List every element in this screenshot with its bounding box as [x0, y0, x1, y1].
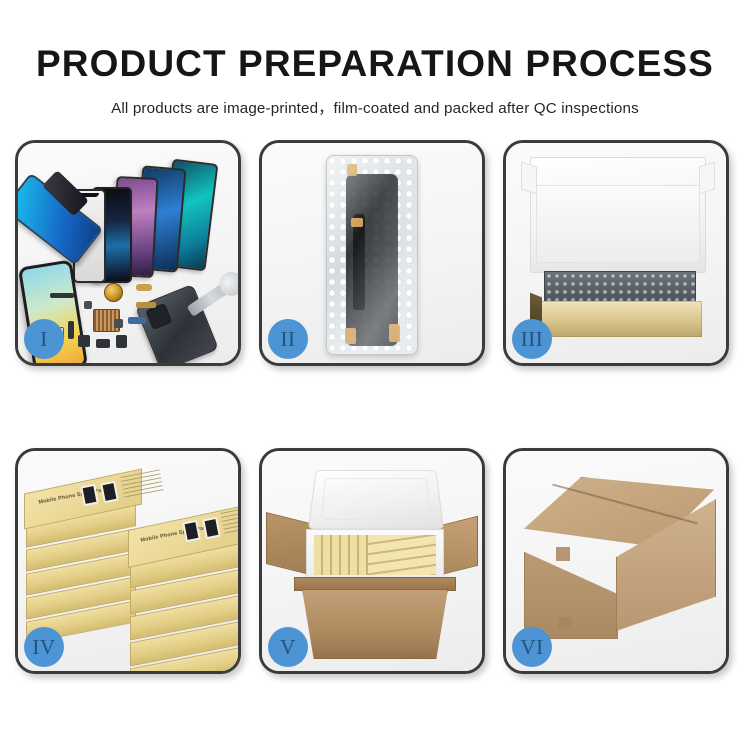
copper-coil-part — [104, 283, 123, 302]
step-panel-4: Mobile Phone Spare Parts Mobile Phone Sp… — [15, 448, 241, 674]
product-preparation-infographic: PRODUCT PREPARATION PROCESS All products… — [0, 0, 750, 750]
step-badge-2: II — [268, 319, 308, 359]
header: PRODUCT PREPARATION PROCESS All products… — [0, 0, 750, 118]
spare-part — [68, 321, 74, 339]
spare-part — [116, 335, 127, 348]
step-badge-1: I — [24, 319, 64, 359]
step-panel-6: VI — [503, 448, 729, 674]
step-badge-5: V — [268, 627, 308, 667]
steps-grid: I II — [15, 140, 735, 674]
page-subtitle: All products are image-printed，film-coat… — [0, 96, 750, 118]
spare-part — [96, 339, 110, 348]
carton-top-edge — [294, 577, 456, 591]
spare-part — [50, 293, 74, 298]
spare-part — [128, 317, 146, 324]
box-front-shade — [538, 301, 702, 337]
spare-part — [78, 335, 90, 347]
box-lid-face — [536, 185, 700, 263]
step-badge-6: VI — [512, 627, 552, 667]
step-panel-3: III — [503, 140, 729, 366]
spare-part — [114, 319, 123, 328]
spare-part — [84, 301, 92, 309]
carton-tape — [558, 617, 572, 629]
plastic-sheen — [327, 156, 417, 354]
page-title: PRODUCT PREPARATION PROCESS — [0, 44, 750, 85]
foam-box-lid — [308, 470, 444, 529]
yellow-boxes-row-angled — [368, 535, 436, 575]
step-panel-1: I — [15, 140, 241, 366]
grey-foam-padding — [544, 271, 696, 305]
step-panel-2: II — [259, 140, 485, 366]
spare-part — [136, 302, 156, 308]
carton-tape — [556, 547, 570, 561]
spare-part — [136, 284, 152, 291]
step-badge-4: IV — [24, 627, 64, 667]
step-panel-5: V — [259, 448, 485, 674]
kraft-carton-body — [302, 589, 448, 659]
bubble-wrap-bag — [326, 155, 418, 355]
step-badge-3: III — [512, 319, 552, 359]
